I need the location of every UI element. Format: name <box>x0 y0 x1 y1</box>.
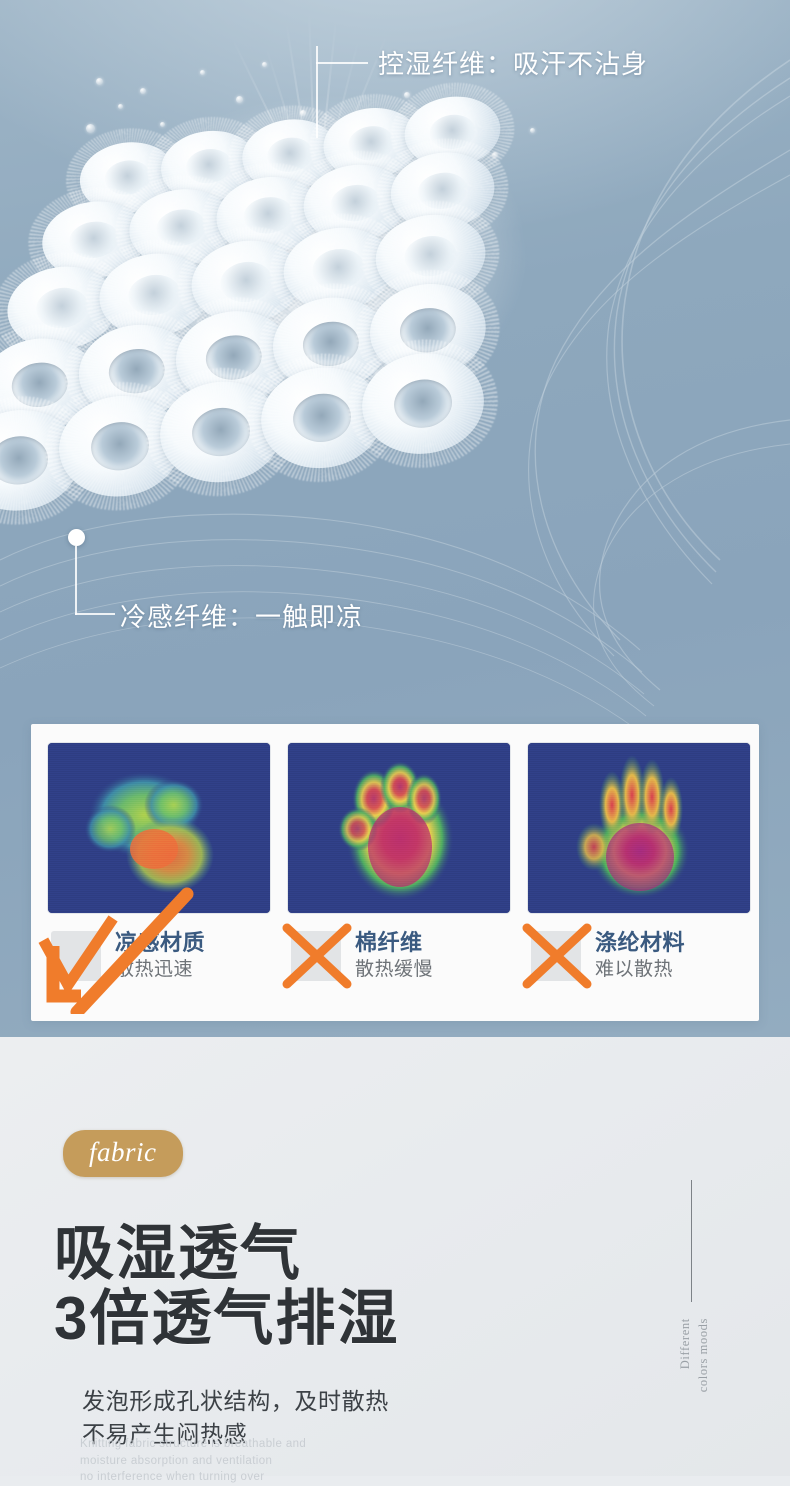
thermal-title-3: 涤纶材料 <box>595 930 685 956</box>
hero-section: 控湿纤维：吸汗不沾身 冷感纤维：一触即凉 <box>0 0 790 1037</box>
thermal-subtitle-3: 难以散热 <box>595 959 685 981</box>
fabric-badge: fabric <box>63 1130 183 1177</box>
thermal-caption-1: 凉感材质 散热迅速 <box>47 930 271 981</box>
cross-mark-icon <box>291 931 341 981</box>
thermal-image-cool <box>47 742 271 914</box>
english-line-1: Knitting fabric structure is breathable … <box>80 1436 306 1453</box>
thermal-cell-cotton: 棉纤维 散热缓慢 <box>287 742 511 981</box>
foam-mesh-structure <box>0 69 641 524</box>
vertical-tagline-line-1: Different <box>676 1318 694 1392</box>
thermal-title-2: 棉纤维 <box>355 930 433 956</box>
callout-bottom-marker-dot <box>68 529 85 546</box>
page-headline: 吸湿透气 3倍透气排湿 <box>54 1222 399 1352</box>
thermal-image-cotton <box>287 742 511 914</box>
thermal-cell-cool-material: 凉感材质 散热迅速 <box>47 742 271 981</box>
vertical-tagline: Different colors moods <box>676 1318 712 1392</box>
subcopy-line-1: 发泡形成孔状结构，及时散热 <box>82 1385 389 1418</box>
callout-bottom-leader-horizontal <box>75 613 115 615</box>
thermal-caption-2: 棉纤维 散热缓慢 <box>287 930 511 981</box>
headline-line-1: 吸湿透气 <box>54 1222 399 1287</box>
thermal-comparison-card: 凉感材质 散热迅速 <box>31 724 759 1021</box>
callout-top-label: 控湿纤维：吸汗不沾身 <box>378 44 648 81</box>
cross-mark-icon <box>531 931 581 981</box>
english-subcopy: Knitting fabric structure is breathable … <box>80 1436 306 1486</box>
thermal-subtitle-2: 散热缓慢 <box>355 959 433 981</box>
english-line-3: no interference when turning over <box>80 1469 306 1486</box>
thermal-image-polyester <box>527 742 751 914</box>
check-mark-icon <box>51 931 101 981</box>
callout-top-leader-horizontal <box>316 62 368 64</box>
english-line-2: moisture absorption and ventilation <box>80 1453 306 1470</box>
vertical-tagline-line-2: colors moods <box>694 1318 712 1392</box>
callout-bottom-label: 冷感纤维：一触即凉 <box>120 597 363 634</box>
callout-bottom-leader-vertical <box>75 546 77 615</box>
thermal-subtitle-1: 散热迅速 <box>115 959 205 981</box>
thermal-cell-polyester: 涤纶材料 难以散热 <box>527 742 751 981</box>
headline-line-2: 3倍透气排湿 <box>54 1287 399 1352</box>
vertical-divider-rule <box>691 1180 692 1302</box>
thermal-title-1: 凉感材质 <box>115 930 205 956</box>
thermal-caption-3: 涤纶材料 难以散热 <box>527 930 751 981</box>
callout-top: 控湿纤维：吸汗不沾身 <box>316 44 648 81</box>
